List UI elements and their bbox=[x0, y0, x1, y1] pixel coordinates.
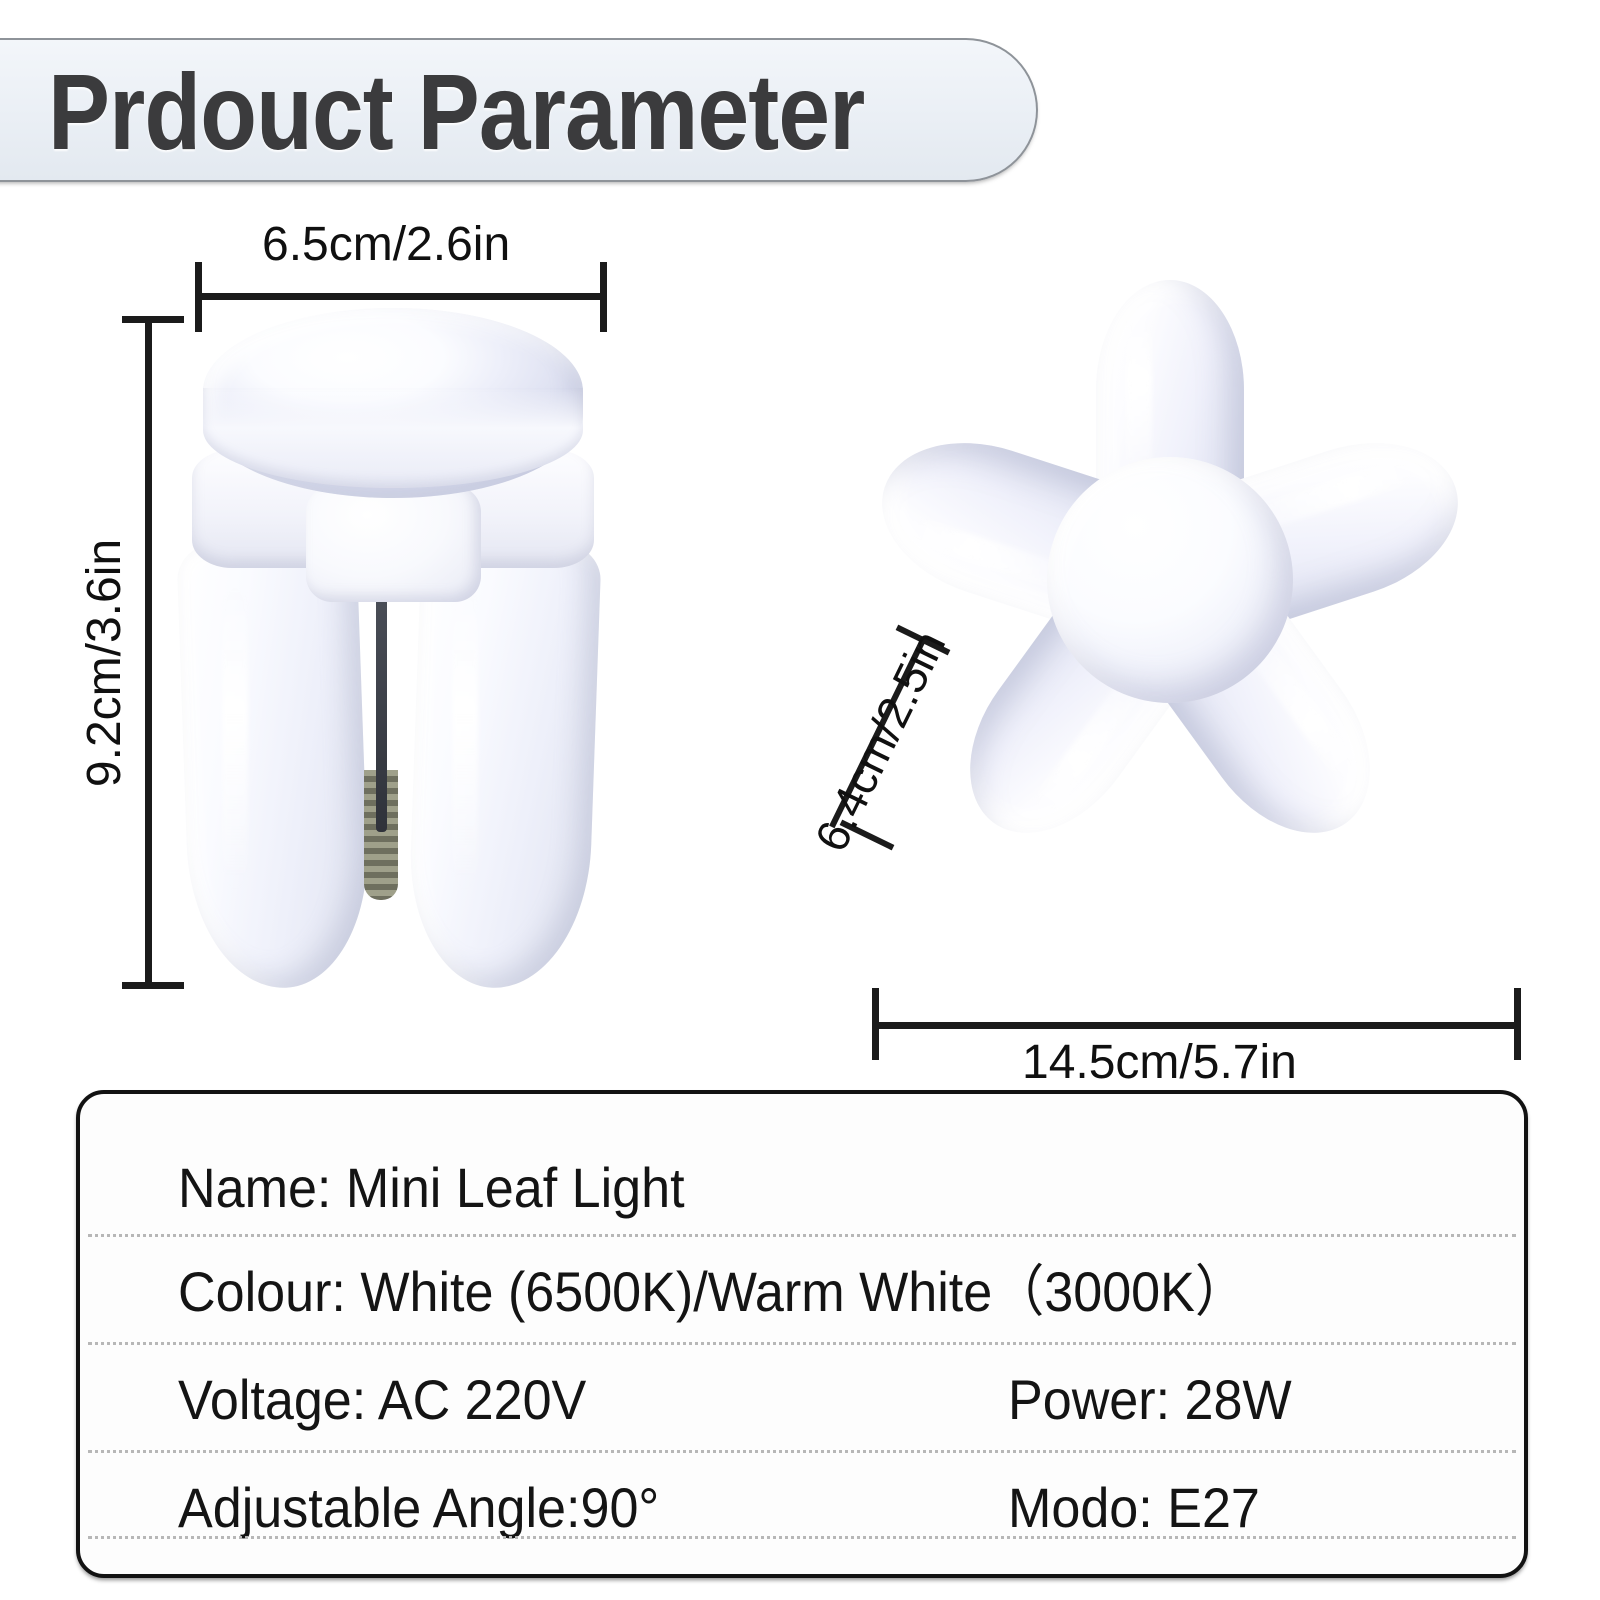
spec-angle-label: Adjustable Angle:90° bbox=[178, 1479, 659, 1537]
title-banner: Prdouct Parameter bbox=[0, 38, 1038, 182]
lamp-hub bbox=[306, 486, 481, 602]
dimension-tick-span-right bbox=[1514, 988, 1521, 1060]
dimension-tick-top bbox=[122, 316, 184, 323]
blade-highlight-right bbox=[452, 590, 478, 890]
dimension-label-span: 14.5cm/5.7in bbox=[1022, 1040, 1297, 1086]
spec-separator-1 bbox=[88, 1234, 1516, 1237]
spec-name-label: Name: Mini Leaf Light bbox=[178, 1159, 685, 1217]
spec-row-voltage-power: Voltage: AC 220V Power: 28W bbox=[80, 1350, 1524, 1450]
spec-separator-3 bbox=[88, 1450, 1516, 1453]
lamp-stem bbox=[376, 582, 387, 832]
dimension-tick-span-left bbox=[872, 988, 879, 1060]
dimension-line-span bbox=[875, 1022, 1521, 1029]
dimension-tick-bottom bbox=[122, 982, 184, 989]
spec-row-colour: Colour: White (6500K)/Warm White（3000K） bbox=[80, 1242, 1524, 1342]
spec-colour-label: Colour: White (6500K)/Warm White（3000K） bbox=[178, 1263, 1247, 1321]
spec-table: Name: Mini Leaf Light Colour: White (650… bbox=[76, 1090, 1528, 1578]
spec-row-name: Name: Mini Leaf Light bbox=[80, 1140, 1524, 1236]
dimension-label-width: 6.5cm/2.6in bbox=[262, 222, 510, 268]
lamp-center-hub bbox=[1047, 457, 1293, 703]
spec-row-angle-modo: Adjustable Angle:90° Modo: E27 bbox=[80, 1458, 1524, 1558]
lamp-blade-right bbox=[406, 537, 602, 991]
dimension-line-horizontal bbox=[195, 293, 607, 300]
spec-separator-4 bbox=[88, 1536, 1516, 1539]
product-image-expanded-lamp bbox=[800, 230, 1540, 930]
blade-highlight-left bbox=[222, 590, 248, 890]
dimension-line-vertical bbox=[145, 320, 152, 988]
lamp-blade-left bbox=[176, 537, 372, 991]
spec-separator-2 bbox=[88, 1342, 1516, 1345]
dimension-label-height: 9.2cm/3.6in bbox=[82, 498, 128, 828]
dimension-tick-right bbox=[600, 262, 607, 332]
page-title: Prdouct Parameter bbox=[48, 54, 864, 170]
spec-voltage-label: Voltage: AC 220V bbox=[178, 1371, 586, 1429]
dimension-tick-left bbox=[195, 262, 202, 332]
spec-power-label: Power: 28W bbox=[1008, 1371, 1292, 1429]
product-image-folded-lamp bbox=[178, 300, 608, 990]
spec-modo-label: Modo: E27 bbox=[1008, 1479, 1260, 1537]
